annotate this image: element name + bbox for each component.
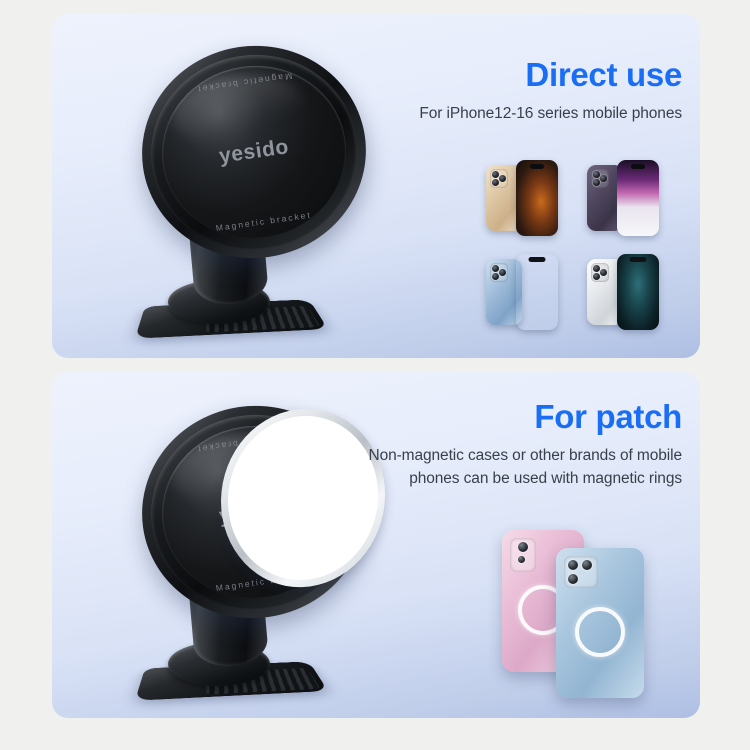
phone-pair-blue: [482, 248, 577, 336]
panel-for-patch: Magnetic bracket yesido Magnetic bracket…: [52, 372, 700, 718]
camera-lens: [600, 269, 607, 276]
camera-bump: [564, 556, 598, 588]
dynamic-island: [631, 164, 645, 169]
camera-lens: [593, 273, 600, 280]
panel-direct-use: Magnetic bracket yesido Magnetic bracket…: [52, 14, 700, 358]
notch: [529, 257, 546, 262]
product-feature-page: Magnetic bracket yesido Magnetic bracket…: [0, 0, 750, 750]
camera-lens: [582, 560, 592, 570]
iphone-silver-front: [617, 254, 659, 330]
dynamic-island: [530, 164, 544, 169]
iphone-purple-front: [617, 160, 659, 236]
iphone-gold-front: [516, 160, 558, 236]
camera-bump: [591, 263, 609, 282]
subline-for-patch: Non-magnetic cases or other brands of mo…: [322, 444, 682, 491]
text-block-for-patch: For patch Non-magnetic cases or other br…: [322, 400, 682, 490]
attached-magnetic-ring: [575, 607, 625, 657]
compatible-phones-grid: [482, 154, 678, 336]
camera-lens: [568, 560, 578, 570]
phones-with-rings-image: [494, 522, 674, 702]
camera-lens: [518, 556, 525, 563]
camera-lens: [492, 265, 499, 272]
camera-lens: [492, 171, 499, 178]
camera-lens: [518, 542, 528, 552]
camera-bump: [490, 263, 508, 282]
phone-pair-purple: [583, 154, 678, 242]
text-block-direct-use: Direct use For iPhone12-16 series mobile…: [322, 58, 682, 125]
camera-lens: [492, 179, 499, 186]
camera-lens: [600, 175, 607, 182]
camera-lens: [593, 171, 600, 178]
camera-bump: [490, 169, 508, 188]
headline-for-patch: For patch: [322, 400, 682, 435]
subline-direct-use: For iPhone12-16 series mobile phones: [322, 102, 682, 125]
camera-bump: [591, 169, 609, 188]
camera-lens: [593, 179, 600, 186]
iphone-blue-front: [516, 254, 558, 330]
camera-lens: [499, 175, 506, 182]
phone-blue-with-ring: [556, 548, 644, 698]
phone-pair-silver: [583, 248, 678, 336]
headline-direct-use: Direct use: [322, 58, 682, 93]
camera-lens: [499, 269, 506, 276]
phone-pair-gold: [482, 154, 577, 242]
notch: [630, 257, 647, 262]
camera-bump: [510, 538, 536, 572]
camera-lens: [593, 265, 600, 272]
camera-lens: [492, 273, 499, 280]
camera-lens: [568, 574, 578, 584]
